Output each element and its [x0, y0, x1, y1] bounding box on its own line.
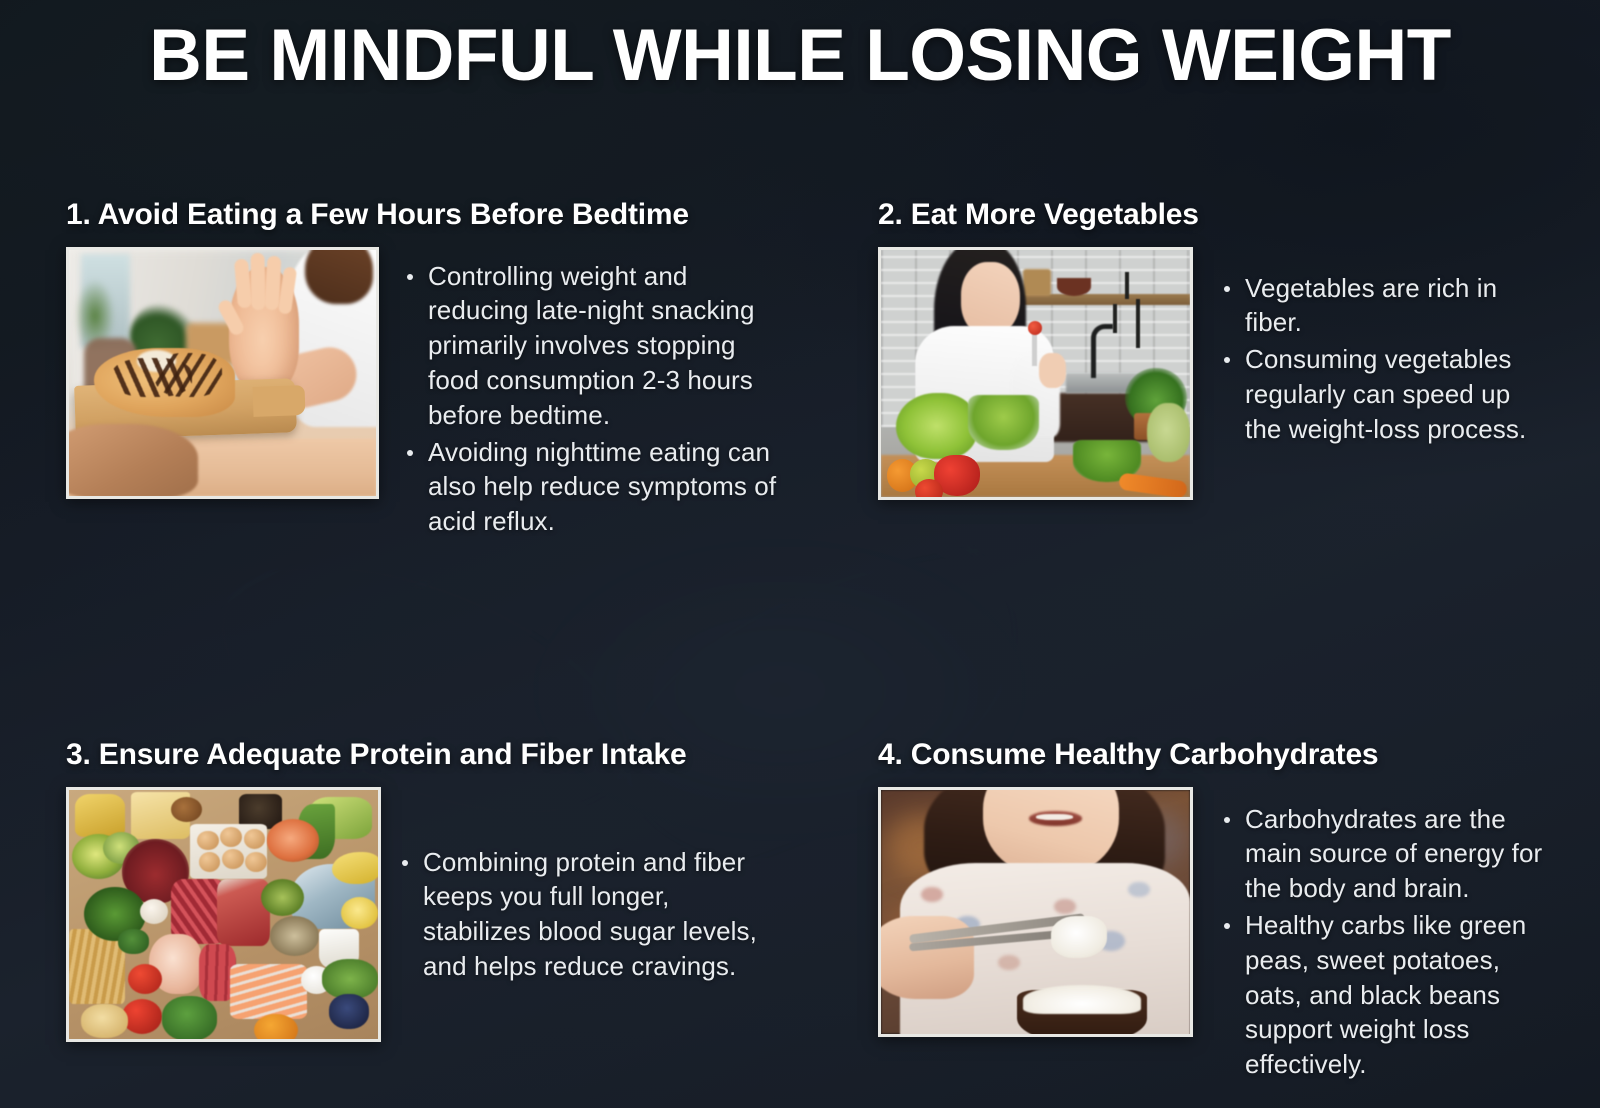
- tip-card-3: 3. Ensure Adequate Protein and Fiber Int…: [66, 736, 826, 1042]
- tip-2-image: [878, 247, 1193, 500]
- tip-4-heading: 4. Consume Healthy Carbohydrates: [878, 736, 1578, 774]
- tip-3-bullets: Combining protein and fiber keeps you fu…: [397, 845, 777, 986]
- tip-1-bullets: Controlling weight and reducing late-nig…: [402, 259, 784, 542]
- list-item: Carbohydrates are the main source of ene…: [1219, 802, 1549, 906]
- tip-card-4: 4. Consume Healthy Carbohydrates: [878, 736, 1578, 1084]
- list-item: Controlling weight and reducing late-nig…: [402, 259, 784, 433]
- tip-1-image: [66, 247, 379, 499]
- list-item: Combining protein and fiber keeps you fu…: [397, 845, 777, 984]
- list-item: Consuming vegetables regularly can speed…: [1219, 342, 1549, 446]
- tip-3-heading: 3. Ensure Adequate Protein and Fiber Int…: [66, 736, 826, 774]
- tip-4-image: [878, 787, 1193, 1037]
- tip-4-bullets: Carbohydrates are the main source of ene…: [1219, 802, 1549, 1085]
- tip-2-heading: 2. Eat More Vegetables: [878, 196, 1578, 234]
- tip-card-2: 2. Eat More Vegetables: [878, 196, 1578, 500]
- tip-3-image: [66, 787, 381, 1042]
- tip-card-1: 1. Avoid Eating a Few Hours Before Bedti…: [66, 196, 826, 541]
- tip-2-bullets: Vegetables are rich in fiber. Consuming …: [1219, 271, 1549, 449]
- list-item: Avoiding nighttime eating can also help …: [402, 435, 784, 539]
- list-item: Vegetables are rich in fiber.: [1219, 271, 1549, 341]
- tip-1-heading: 1. Avoid Eating a Few Hours Before Bedti…: [66, 196, 826, 234]
- tips-grid: 1. Avoid Eating a Few Hours Before Bedti…: [0, 0, 1600, 1108]
- list-item: Healthy carbs like green peas, sweet pot…: [1219, 908, 1549, 1082]
